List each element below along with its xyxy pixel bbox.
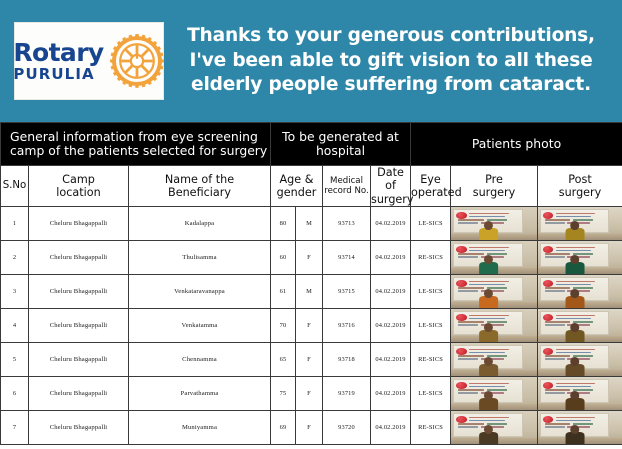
camp-logo-icon — [543, 348, 553, 355]
banner-text-line — [458, 222, 479, 224]
table-body: 1Cheluru BhagappalliKadalappa80M9371304.… — [1, 207, 622, 445]
cell-post-surgery-photo[interactable] — [538, 207, 622, 241]
banner-text-line — [469, 284, 505, 286]
camp-logo-icon — [543, 416, 553, 423]
cell-sno: 4 — [1, 309, 29, 343]
cell-medical-record-no: 93715 — [323, 275, 371, 309]
patient-head — [484, 391, 493, 400]
camp-logo-icon — [456, 246, 466, 253]
patient-figure — [567, 357, 584, 376]
cell-camp-location: Cheluru Bhagappalli — [29, 275, 129, 309]
cell-post-surgery-photo[interactable] — [538, 343, 622, 377]
cell-camp-location: Cheluru Bhagappalli — [29, 343, 129, 377]
table-row[interactable]: 5Cheluru BhagappalliChennamma65F9371804.… — [1, 343, 622, 377]
patient-body — [566, 364, 584, 376]
cell-pre-surgery-photo[interactable] — [451, 411, 538, 445]
banner-text-line — [545, 222, 565, 224]
banner-text-line — [556, 383, 595, 385]
col-header-date-of-surgery: Date of surgery — [371, 166, 411, 207]
cell-eye-operated: RE-SICS — [411, 343, 451, 377]
header-banner: Rotary PURULIA — [0, 0, 622, 122]
patient-body — [480, 262, 499, 274]
banner-text-line — [556, 247, 595, 249]
post-surgery-thumbnail[interactable] — [538, 275, 622, 308]
cell-camp-location: Cheluru Bhagappalli — [29, 377, 129, 411]
cell-date-of-surgery: 04.02.2019 — [371, 241, 411, 275]
cell-age: 61 — [271, 275, 296, 309]
cell-camp-location: Cheluru Bhagappalli — [29, 411, 129, 445]
group-header-row: General information from eye screening c… — [1, 123, 622, 166]
cell-eye-operated: LE-SICS — [411, 207, 451, 241]
cell-gender: M — [296, 275, 323, 309]
cell-date-of-surgery: 04.02.2019 — [371, 343, 411, 377]
cell-gender: F — [296, 241, 323, 275]
cell-medical-record-no: 93713 — [323, 207, 371, 241]
cell-beneficiary-name: Parvathamma — [129, 377, 271, 411]
patients-table: General information from eye screening c… — [0, 122, 622, 445]
banner-text-line — [469, 216, 505, 218]
col-header-eye-operated: Eye operated — [411, 166, 451, 207]
patient-head — [571, 255, 580, 264]
cell-beneficiary-name: Muniyamma — [129, 411, 271, 445]
cell-pre-surgery-photo[interactable] — [451, 207, 538, 241]
cell-beneficiary-name: Kadalappa — [129, 207, 271, 241]
col-header-beneficiary-name: Name of the Beneficiary — [129, 166, 271, 207]
pre-surgery-thumbnail[interactable] — [451, 275, 537, 308]
cell-beneficiary-name: Venkataravanappa — [129, 275, 271, 309]
patient-head — [571, 221, 580, 230]
col-header-pre-surgery: Pre surgery — [451, 166, 538, 207]
banner-text-line — [556, 352, 591, 354]
banner-text-line — [469, 383, 509, 385]
col-header-name-line1: Name of the — [129, 173, 270, 186]
banner-text-line — [458, 358, 479, 360]
patient-body — [480, 432, 499, 444]
patient-body — [566, 228, 584, 240]
patient-head — [571, 425, 580, 434]
camp-logo-icon — [456, 348, 466, 355]
cell-sno: 3 — [1, 275, 29, 309]
col-header-post-line2: surgery — [538, 186, 622, 199]
col-header-sno: S.No — [1, 166, 29, 207]
banner-text-line — [556, 315, 595, 317]
patient-figure — [480, 289, 497, 308]
group-header-hospital: To be generated at hospital — [271, 123, 411, 166]
banner-text-line — [556, 281, 595, 283]
banner-text-line — [469, 250, 505, 252]
patient-body — [566, 296, 584, 308]
post-surgery-thumbnail[interactable] — [538, 241, 622, 274]
cell-medical-record-no: 93714 — [323, 241, 371, 275]
banner-text-line — [556, 250, 591, 252]
cell-sno: 1 — [1, 207, 29, 241]
banner-line-3: elderly people suffering from cataract. — [168, 73, 614, 97]
cell-pre-surgery-photo[interactable] — [451, 241, 538, 275]
cell-eye-operated: LE-SICS — [411, 309, 451, 343]
col-header-medical-line1: Medical — [323, 176, 370, 186]
patient-figure — [567, 221, 584, 240]
camp-logo-icon — [456, 416, 466, 423]
banner-message: Thanks to your generous contributions, I… — [164, 24, 622, 97]
patient-figure — [480, 391, 497, 410]
col-header-name-line2: Beneficiary — [129, 186, 270, 199]
logo-brand-text: Rotary — [13, 40, 103, 65]
col-header-pre-line2: surgery — [451, 186, 537, 199]
col-header-post-surgery: Post surgery — [538, 166, 622, 207]
table-row[interactable]: 4Cheluru BhagappalliVenkatamma70F9371604… — [1, 309, 622, 343]
banner-text-line — [469, 315, 509, 317]
cell-eye-operated: RE-SICS — [411, 411, 451, 445]
col-header-agegender-line1: Age & — [271, 173, 322, 186]
banner-text-line — [458, 256, 479, 258]
col-header-pre-line1: Pre — [451, 173, 537, 186]
banner-text-line — [556, 349, 595, 351]
col-header-date-line1: Date of — [371, 166, 410, 193]
patient-head — [571, 289, 580, 298]
cell-gender: F — [296, 309, 323, 343]
camp-logo-icon — [543, 280, 553, 287]
col-header-eye-line2: operated — [411, 186, 450, 199]
cell-pre-surgery-photo[interactable] — [451, 343, 538, 377]
post-surgery-thumbnail[interactable] — [538, 377, 622, 410]
patient-head — [484, 323, 493, 332]
banner-text-line — [545, 256, 565, 258]
patient-head — [484, 255, 493, 264]
patient-figure — [480, 425, 497, 444]
col-header-camp-line1: Camp — [29, 173, 128, 186]
col-header-camp-location: Camp location — [29, 166, 129, 207]
cell-beneficiary-name: Venkatamma — [129, 309, 271, 343]
post-surgery-thumbnail[interactable] — [538, 411, 622, 444]
cell-age: 80 — [271, 207, 296, 241]
cell-sno: 6 — [1, 377, 29, 411]
cell-medical-record-no: 93718 — [323, 343, 371, 377]
camp-logo-icon — [456, 212, 466, 219]
cell-medical-record-no: 93720 — [323, 411, 371, 445]
logo-club-text: PURULIA — [13, 67, 94, 82]
cell-post-surgery-photo[interactable] — [538, 275, 622, 309]
patient-head — [571, 323, 580, 332]
patient-head — [484, 357, 493, 366]
cell-medical-record-no: 93716 — [323, 309, 371, 343]
camp-logo-icon — [543, 382, 553, 389]
banner-text-line — [545, 426, 565, 428]
rotary-wheel-icon — [109, 33, 165, 89]
banner-text-line — [545, 358, 565, 360]
banner-text-line — [556, 216, 591, 218]
group-header-general: General information from eye screening c… — [1, 123, 271, 166]
camp-logo-icon — [543, 246, 553, 253]
pre-surgery-thumbnail[interactable] — [451, 343, 537, 376]
cell-age: 75 — [271, 377, 296, 411]
pre-surgery-thumbnail[interactable] — [451, 377, 537, 410]
cell-age: 70 — [271, 309, 296, 343]
patient-body — [566, 262, 584, 274]
banner-text-line — [469, 247, 509, 249]
cell-age: 69 — [271, 411, 296, 445]
patient-head — [484, 289, 493, 298]
patient-figure — [480, 357, 497, 376]
patient-body — [480, 296, 499, 308]
cell-date-of-surgery: 04.02.2019 — [371, 377, 411, 411]
cell-beneficiary-name: Thulisamma — [129, 241, 271, 275]
cell-eye-operated: LE-SICS — [411, 377, 451, 411]
pre-surgery-thumbnail[interactable] — [451, 207, 537, 240]
cell-gender: F — [296, 343, 323, 377]
patient-head — [484, 221, 493, 230]
cell-sno: 7 — [1, 411, 29, 445]
patient-figure — [480, 255, 497, 274]
group-header-photos: Patients photo — [411, 123, 622, 166]
cell-age: 60 — [271, 241, 296, 275]
camp-logo-icon — [543, 314, 553, 321]
cell-gender: M — [296, 207, 323, 241]
patient-figure — [480, 323, 497, 342]
pre-surgery-thumbnail[interactable] — [451, 241, 537, 274]
patient-body — [480, 398, 499, 410]
banner-text-line — [458, 426, 479, 428]
banner-text-line — [556, 284, 591, 286]
cell-camp-location: Cheluru Bhagappalli — [29, 241, 129, 275]
banner-text-line — [545, 290, 565, 292]
banner-text-line — [556, 417, 595, 419]
cell-medical-record-no: 93719 — [323, 377, 371, 411]
camp-logo-icon — [456, 382, 466, 389]
pre-surgery-thumbnail[interactable] — [451, 411, 537, 444]
cell-post-surgery-photo[interactable] — [538, 411, 622, 445]
patient-figure — [567, 425, 584, 444]
banner-text-line — [556, 213, 595, 215]
col-header-agegender-line2: gender — [271, 186, 322, 199]
patient-figure — [567, 289, 584, 308]
column-header-row: S.No Camp location Name of the Beneficia… — [1, 166, 622, 207]
cell-date-of-surgery: 04.02.2019 — [371, 275, 411, 309]
cell-beneficiary-name: Chennamma — [129, 343, 271, 377]
cell-pre-surgery-photo[interactable] — [451, 309, 538, 343]
patient-body — [480, 330, 499, 342]
banner-text-line — [545, 324, 565, 326]
cell-eye-operated: LE-SICS — [411, 275, 451, 309]
camp-logo-icon — [456, 280, 466, 287]
cell-eye-operated: RE-SICS — [411, 241, 451, 275]
rotary-logo: Rotary PURULIA — [14, 22, 164, 100]
patient-body — [480, 364, 499, 376]
patient-figure — [567, 255, 584, 274]
cell-gender: F — [296, 377, 323, 411]
banner-text-line — [469, 281, 509, 283]
patient-body — [566, 330, 584, 342]
patient-figure — [567, 391, 584, 410]
cell-pre-surgery-photo[interactable] — [451, 275, 538, 309]
banner-text-line — [556, 420, 591, 422]
col-header-medical-line2: record No. — [323, 186, 370, 196]
patient-figure — [567, 323, 584, 342]
table-row[interactable]: 7Cheluru BhagappalliMuniyamma69F9372004.… — [1, 411, 622, 445]
patient-body — [480, 228, 499, 240]
cell-post-surgery-photo[interactable] — [538, 241, 622, 275]
cell-date-of-surgery: 04.02.2019 — [371, 207, 411, 241]
pre-surgery-thumbnail[interactable] — [451, 309, 537, 342]
banner-text-line — [469, 349, 509, 351]
banner-text-line — [469, 386, 505, 388]
col-header-age-gender: Age & gender — [271, 166, 323, 207]
banner-line-2: I've been able to gift vision to all the… — [168, 49, 614, 73]
col-header-camp-line2: location — [29, 186, 128, 199]
patient-head — [571, 391, 580, 400]
banner-line-1: Thanks to your generous contributions, — [168, 24, 614, 48]
cell-gender: F — [296, 411, 323, 445]
banner-text-line — [458, 392, 479, 394]
col-header-eye-line1: Eye — [411, 173, 450, 186]
col-header-date-line2: surgery — [371, 193, 410, 206]
banner-text-line — [545, 392, 565, 394]
cell-date-of-surgery: 04.02.2019 — [371, 411, 411, 445]
table-row[interactable]: 1Cheluru BhagappalliKadalappa80M9371304.… — [1, 207, 622, 241]
cell-camp-location: Cheluru Bhagappalli — [29, 207, 129, 241]
patient-head — [571, 357, 580, 366]
post-surgery-thumbnail[interactable] — [538, 207, 622, 240]
table-row[interactable]: 3Cheluru BhagappalliVenkataravanappa61M9… — [1, 275, 622, 309]
banner-text-line — [469, 420, 505, 422]
cell-date-of-surgery: 04.02.2019 — [371, 309, 411, 343]
banner-text-line — [469, 213, 509, 215]
banner-text-line — [458, 290, 479, 292]
banner-text-line — [469, 352, 505, 354]
post-surgery-thumbnail[interactable] — [538, 309, 622, 342]
cell-sno: 2 — [1, 241, 29, 275]
patient-body — [566, 398, 584, 410]
cell-post-surgery-photo[interactable] — [538, 309, 622, 343]
cell-sno: 5 — [1, 343, 29, 377]
patient-figure — [480, 221, 497, 240]
camp-logo-icon — [543, 212, 553, 219]
patient-head — [484, 425, 493, 434]
table-row[interactable]: 2Cheluru BhagappalliThulisamma60F9371404… — [1, 241, 622, 275]
report-page: Rotary PURULIA — [0, 0, 622, 449]
cell-post-surgery-photo[interactable] — [538, 377, 622, 411]
col-header-post-line1: Post — [538, 173, 622, 186]
banner-text-line — [469, 417, 509, 419]
post-surgery-thumbnail[interactable] — [538, 343, 622, 376]
patient-body — [566, 432, 584, 444]
cell-pre-surgery-photo[interactable] — [451, 377, 538, 411]
table-row[interactable]: 6Cheluru BhagappalliParvathamma75F937190… — [1, 377, 622, 411]
col-header-sno-line1: S.No — [1, 180, 28, 192]
cell-camp-location: Cheluru Bhagappalli — [29, 309, 129, 343]
camp-logo-icon — [456, 314, 466, 321]
banner-text-line — [556, 318, 591, 320]
cell-age: 65 — [271, 343, 296, 377]
banner-text-line — [556, 386, 591, 388]
banner-text-line — [469, 318, 505, 320]
col-header-medical-record: Medical record No. — [323, 166, 371, 207]
banner-text-line — [458, 324, 479, 326]
